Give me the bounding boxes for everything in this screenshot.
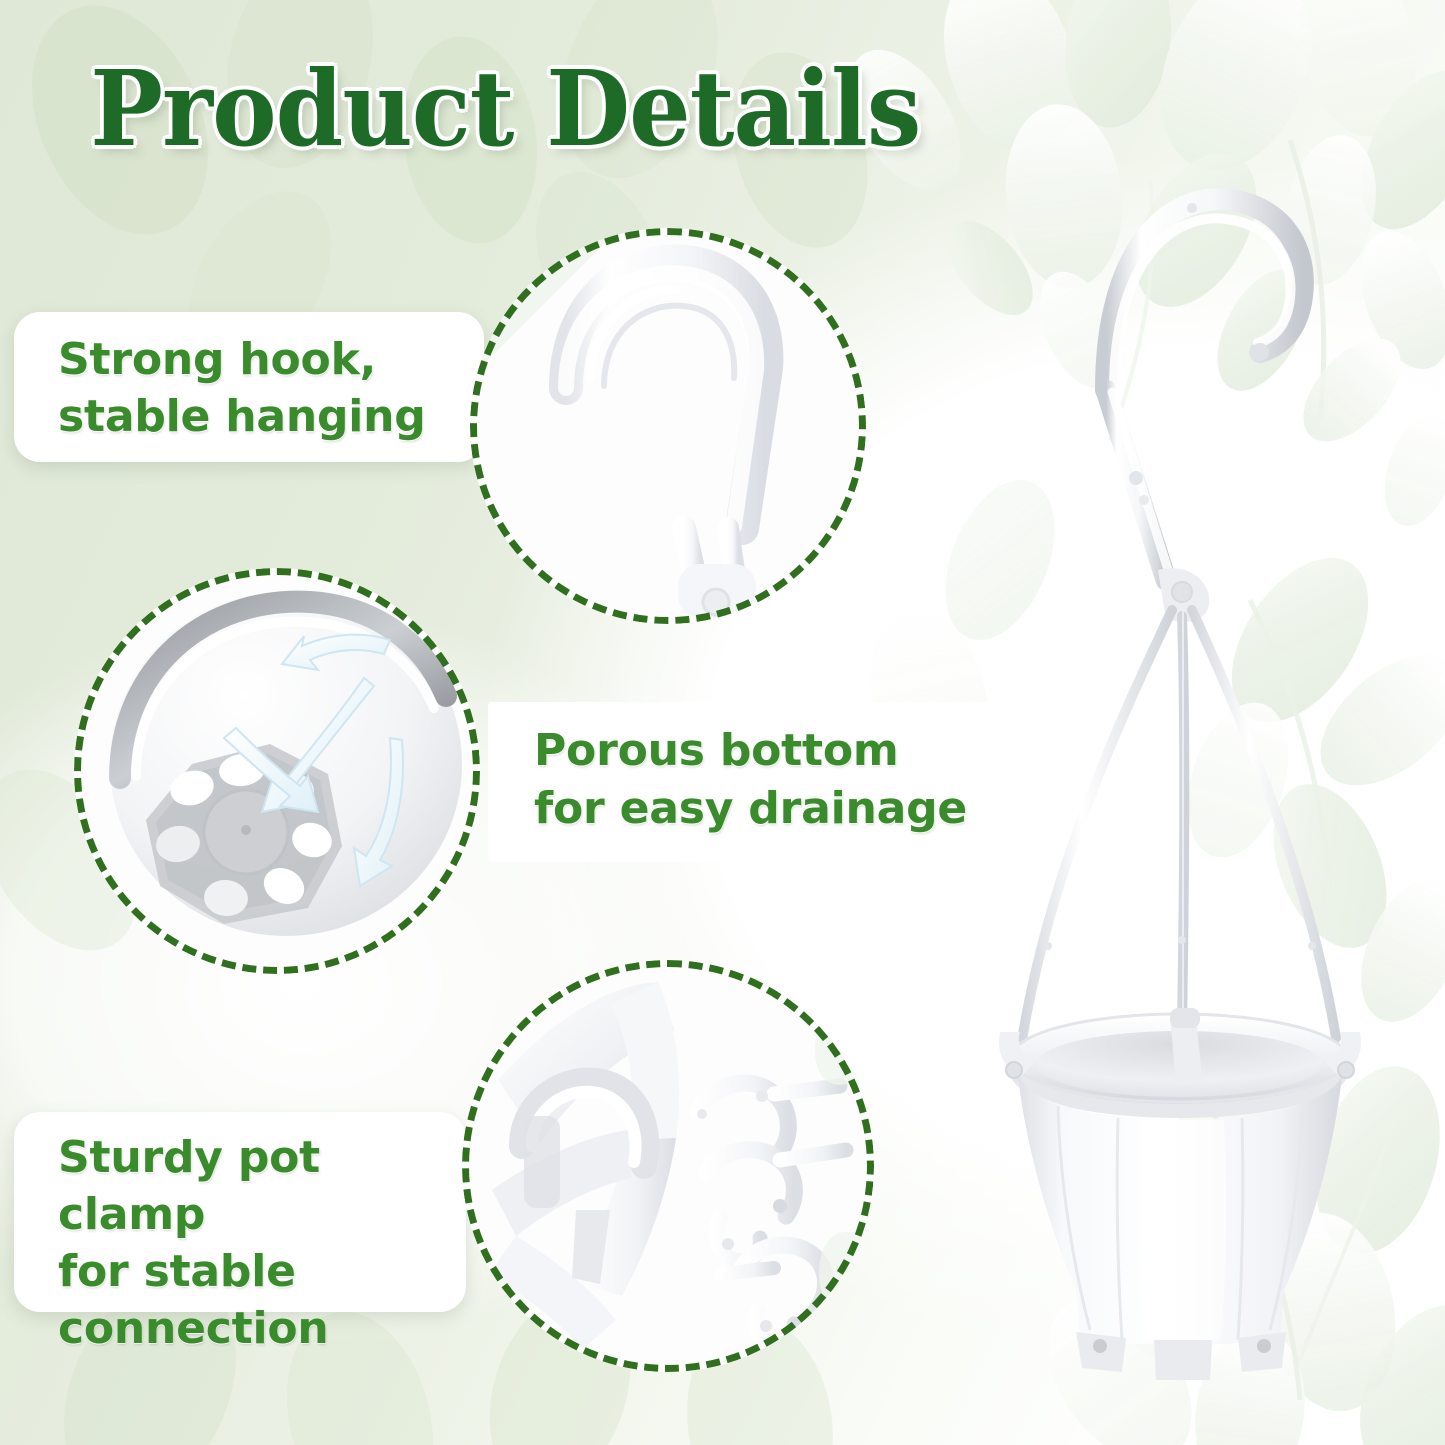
page-title: Product Details (90, 56, 920, 162)
hook-icon (470, 228, 866, 624)
pot-clamp-photo (462, 960, 874, 1372)
drainage-holes-icon (74, 568, 480, 974)
hero-product-hanging-planter (930, 140, 1430, 1380)
detail-circle-porous-bottom[interactable] (74, 568, 480, 974)
callout-label-text: Strong hook, stable hanging (58, 331, 426, 445)
callout-label-strong-hook: Strong hook, stable hanging (14, 312, 484, 462)
pot-part (999, 1008, 1361, 1380)
hanger-strands (1022, 610, 1336, 1040)
hook-closeup-photo (470, 228, 866, 624)
detail-circle-pot-clamp[interactable] (462, 960, 874, 1372)
hook-shank (1106, 390, 1209, 622)
porous-bottom-photo (74, 568, 480, 974)
callout-label-text: Porous bottom for easy drainage (534, 722, 967, 838)
detail-circle-strong-hook[interactable] (470, 228, 866, 624)
clamp-icon (462, 960, 874, 1372)
callout-label-pot-clamp: Sturdy pot clamp for stable connection (14, 1112, 466, 1312)
hanging-planter-illustration (930, 140, 1430, 1380)
callout-label-text: Sturdy pot clamp for stable connection (58, 1129, 466, 1357)
page-title-wrap: Product Details (0, 56, 1010, 162)
hook-part (1106, 199, 1303, 390)
product-details-poster: Product Details Strong hook, stable hang… (0, 0, 1445, 1445)
